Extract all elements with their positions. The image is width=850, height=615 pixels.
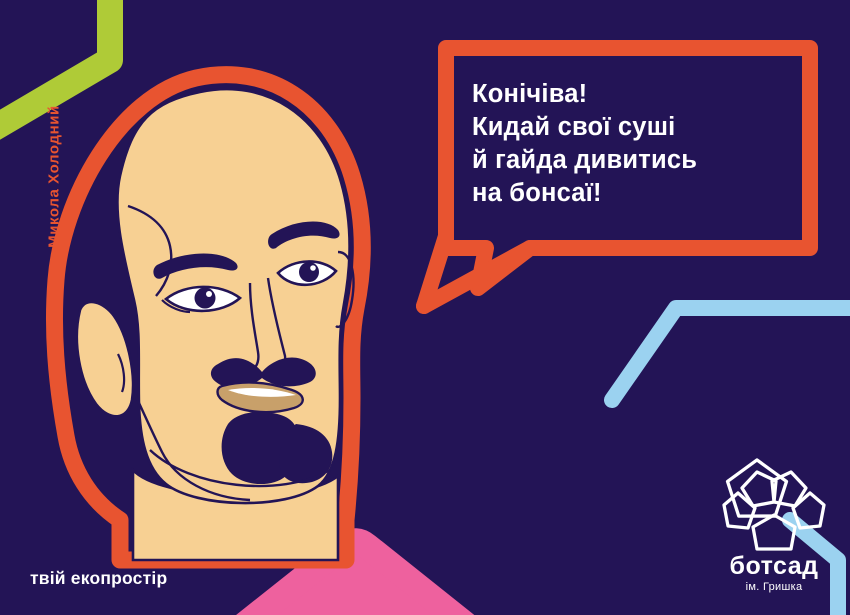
logo-wordmark: ботсад: [714, 552, 834, 581]
right-eye-iris: [299, 262, 319, 282]
tagline-label: твій екопростір: [30, 568, 167, 589]
logo-subtitle: ім. Гришка: [714, 581, 834, 593]
left-eye-highlight: [206, 291, 212, 297]
poster-canvas: Конічіва! Кидай свої суші й гайда дивити…: [0, 0, 850, 615]
left-eye-iris: [195, 288, 216, 309]
right-eye-highlight: [310, 265, 316, 271]
speech-bubble-text: Конічіва! Кидай свої суші й гайда дивити…: [472, 78, 812, 210]
author-name-label: Микола Холодний: [46, 77, 63, 277]
